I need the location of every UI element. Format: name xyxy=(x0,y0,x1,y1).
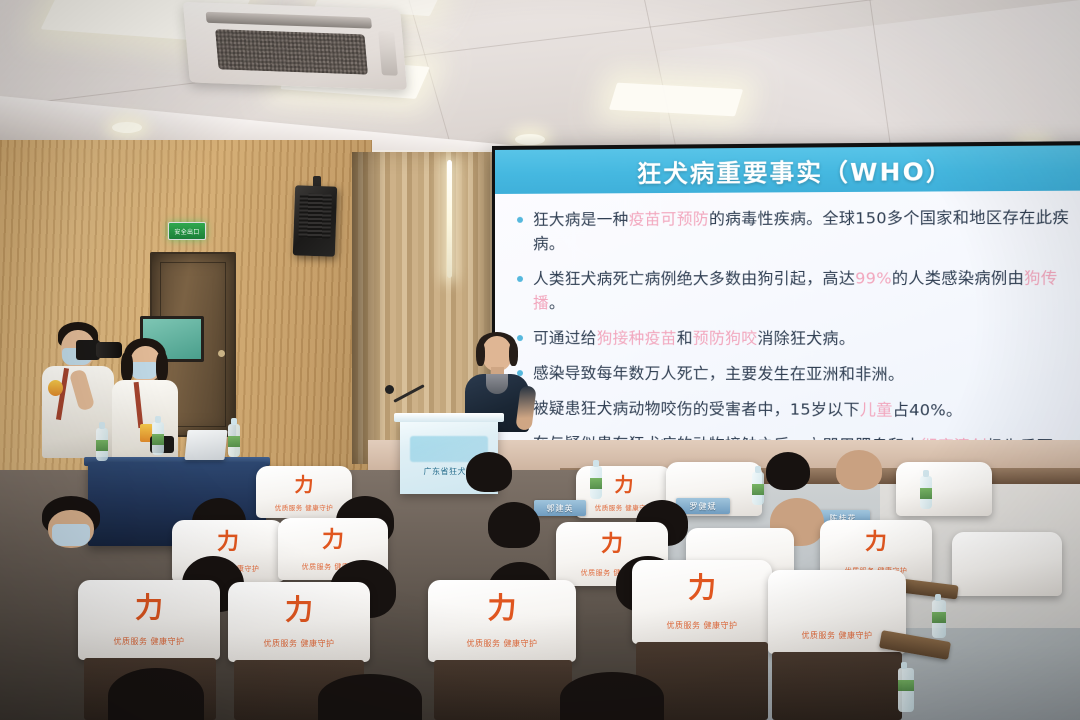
chair-logo: 力 xyxy=(865,532,887,554)
chair-logo: 力 xyxy=(135,594,163,622)
head-hair xyxy=(766,452,810,490)
door-knob-icon[interactable] xyxy=(218,350,225,357)
slide-bullet-text: 被疑患狂犬病动物咬伤的受害者中，15岁以下儿童占40%。 xyxy=(533,396,962,423)
water-bottle-icon xyxy=(590,466,602,499)
conference-hall-photo: 安全出口 狂犬病重要事实（WHO） 狂大病是一种疫苗可预防的病毒性疾病。全球15… xyxy=(0,0,1080,720)
chair-cover: 力 优质服务 健康守护 xyxy=(632,560,772,644)
head-hair xyxy=(108,668,204,720)
water-bottle-icon xyxy=(752,472,764,505)
plain-phrase: 和 xyxy=(677,329,693,347)
chair-slogan: 优质服务 健康守护 xyxy=(78,636,220,647)
downlight-icon xyxy=(112,122,142,133)
chair-logo: 力 xyxy=(487,594,516,623)
audience-head xyxy=(42,496,100,548)
head-hair xyxy=(488,502,540,548)
highlighted-phrase: 狗接种疫苗 xyxy=(597,329,677,347)
slide-title: 狂犬病重要事实（WHO） xyxy=(637,151,953,189)
water-bottle-icon xyxy=(152,422,164,455)
chair-logo: 力 xyxy=(601,534,623,556)
highlighted-phrase: 疫苗可预防 xyxy=(629,210,709,229)
plain-phrase: 占40%。 xyxy=(893,401,963,420)
projection-screen: 狂犬病重要事实（WHO） 狂大病是一种疫苗可预防的病毒性疾病。全球150多个国家… xyxy=(492,141,1080,473)
head-hair xyxy=(318,674,422,720)
chair-slogan: 优质服务 健康守护 xyxy=(228,638,370,649)
name-plate: 郭建英 xyxy=(534,500,586,516)
slide-bullet-text: 人类狂犬病死亡病例绝大多数由狗引起，高达99%的人类感染病例由狗传播。 xyxy=(533,266,1080,315)
chair-logo: 力 xyxy=(294,476,313,495)
presenter-hair-side xyxy=(509,342,518,366)
head-hair xyxy=(466,452,512,492)
slide-header: 狂犬病重要事实（WHO） xyxy=(495,145,1080,194)
ceiling xyxy=(0,0,1080,152)
seat-base xyxy=(434,660,572,720)
staff-hair-side xyxy=(156,352,168,382)
chair-cover: 力 优质服务 健康守护 xyxy=(428,580,576,662)
plain-phrase: 可通过给 xyxy=(533,329,597,347)
ceiling-light-panel xyxy=(609,83,743,117)
curtain-shadow xyxy=(352,152,386,464)
ceiling-ac-cassette-icon xyxy=(183,2,407,90)
name-plate-label: 罗健斌 xyxy=(690,501,717,512)
presenter-hair-side xyxy=(476,342,485,366)
head-bald xyxy=(836,450,882,490)
chair-logo: 力 xyxy=(217,532,239,554)
staff-shirt xyxy=(112,380,178,466)
badge-icon xyxy=(48,380,63,396)
audience-head xyxy=(836,450,882,490)
chair-slogan: 优质服务 健康守护 xyxy=(632,620,772,631)
plain-phrase: 。 xyxy=(549,294,565,312)
chair-slogan: 优质服务 健康守护 xyxy=(428,638,576,649)
face-mask-icon xyxy=(130,362,158,379)
downlight-icon xyxy=(515,134,545,145)
slide-bullet-text: 感染导致每年数万人死亡，主要发生在亚洲和非洲。 xyxy=(533,361,904,387)
slide-bullet-text: 可通过给狗接种疫苗和预防狗咬消除狂犬病。 xyxy=(533,326,855,351)
water-bottle-icon xyxy=(898,668,914,712)
highlighted-phrase: 儿童 xyxy=(860,401,893,420)
audience-head-foreground xyxy=(318,674,422,720)
face-mask-icon xyxy=(52,524,90,546)
plain-phrase: 狂大病是一种 xyxy=(533,210,629,229)
slide-bullet: 被疑患狂犬病动物咬伤的受害者中，15岁以下儿童占40%。 xyxy=(513,396,1080,423)
head-hair xyxy=(560,672,664,720)
presenter-collar xyxy=(486,374,508,394)
name-plate-label: 郭建英 xyxy=(547,503,574,514)
audience-head xyxy=(488,502,540,548)
chair-cover: 力 优质服务 健康守护 xyxy=(78,580,220,660)
plain-phrase: 被疑患狂犬病动物咬伤的受害者中，15岁以下 xyxy=(533,399,860,419)
bullet-dot-icon xyxy=(517,217,523,223)
water-bottle-icon xyxy=(96,428,108,461)
slide-bullet: 人类狂犬病死亡病例绝大多数由狗引起，高达99%的人类感染病例由狗传播。 xyxy=(513,266,1080,315)
chair-cover: 力 优质服务 健康守护 xyxy=(228,582,370,662)
audience-head-foreground xyxy=(560,672,664,720)
wall-light-strip xyxy=(447,160,452,278)
audience-head xyxy=(766,452,810,490)
audience-head xyxy=(466,452,512,492)
slide-bullet: 狂大病是一种疫苗可预防的病毒性疾病。全球150多个国家和地区存在此疾病。 xyxy=(513,205,1080,256)
plain-phrase: 的人类感染病例由 xyxy=(892,269,1024,288)
staff-hair-side xyxy=(121,352,133,382)
laptop-icon[interactable] xyxy=(184,430,227,460)
water-bottle-icon xyxy=(932,600,946,638)
microphone-icon xyxy=(385,385,394,394)
plain-phrase: 消除狂犬病。 xyxy=(757,329,855,347)
chair-logo: 力 xyxy=(688,574,716,602)
highlighted-phrase: 99% xyxy=(855,269,892,287)
water-bottle-icon xyxy=(920,476,932,509)
slide-bullet: 感染导致每年数万人死亡，主要发生在亚洲和非洲。 xyxy=(513,361,1080,387)
chair-cover xyxy=(896,462,992,516)
bullet-dot-icon xyxy=(517,276,523,282)
audience-head-foreground xyxy=(108,668,204,720)
wall-speaker-icon xyxy=(293,185,337,256)
ac-side-vent xyxy=(378,31,398,76)
slide-bullet: 可通过给狗接种疫苗和预防狗咬消除狂犬病。 xyxy=(513,326,1080,351)
water-bottle-icon xyxy=(228,424,240,457)
seat-base xyxy=(772,652,902,720)
presenter-head xyxy=(482,336,512,371)
plain-phrase: 人类狂犬病死亡病例绝大多数由狗引起，高达 xyxy=(533,269,855,288)
exit-sign-label: 安全出口 xyxy=(174,227,199,236)
plain-phrase: 感染导致每年数万人死亡，主要发生在亚洲和非洲。 xyxy=(533,364,904,383)
presentation-slide: 狂犬病重要事实（WHO） 狂大病是一种疫苗可预防的病毒性疾病。全球150多个国家… xyxy=(495,145,1080,470)
chair-cover xyxy=(952,532,1062,596)
slide-body: 狂大病是一种疫苗可预防的病毒性疾病。全球150多个国家和地区存在此疾病。人类狂犬… xyxy=(495,191,1080,470)
chair-logo: 力 xyxy=(285,596,313,624)
ac-vent xyxy=(206,12,372,29)
chair-logo: 力 xyxy=(322,530,344,552)
lectern-top xyxy=(394,413,504,422)
highlighted-phrase: 预防狗咬 xyxy=(693,329,758,347)
slide-bullet-text: 狂大病是一种疫苗可预防的病毒性疾病。全球150多个国家和地区存在此疾病。 xyxy=(533,205,1080,256)
ac-grille xyxy=(215,29,368,75)
chair-logo: 力 xyxy=(614,476,633,495)
exit-sign-icon: 安全出口 xyxy=(168,222,206,240)
